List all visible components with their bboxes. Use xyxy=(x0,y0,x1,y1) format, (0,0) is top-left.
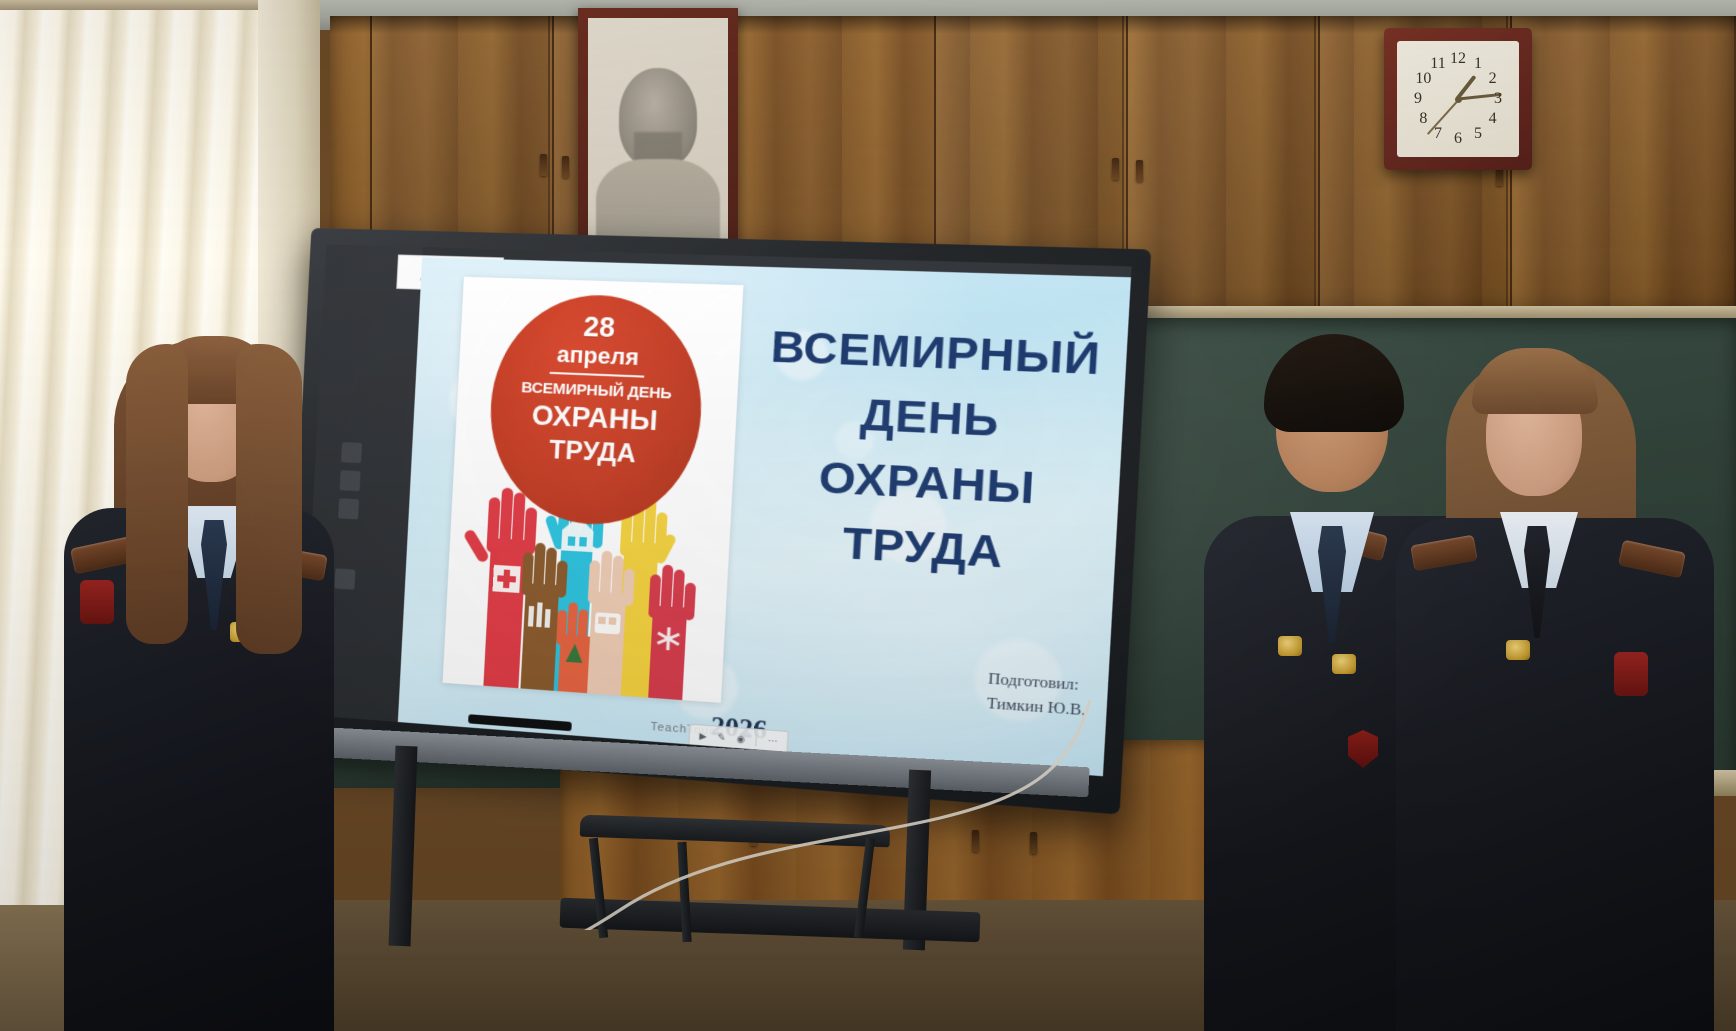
framed-portrait xyxy=(578,8,738,256)
hair-strand-left xyxy=(126,344,188,644)
chair-leg xyxy=(854,838,875,938)
app-tool-button[interactable] xyxy=(338,498,359,519)
clock-face: 121234567891011 xyxy=(1397,41,1519,157)
cabinet-handle[interactable] xyxy=(972,830,979,852)
cabinet-handle[interactable] xyxy=(562,156,569,178)
epaulette xyxy=(1410,535,1478,572)
headline-line: ВСЕМИРНЫЙ xyxy=(762,315,1109,393)
clock-numeral: 11 xyxy=(1430,55,1445,73)
hair-top xyxy=(1472,348,1598,414)
poster-rule xyxy=(550,372,645,378)
epaulette xyxy=(1618,540,1686,579)
clock-numeral: 5 xyxy=(1474,125,1482,143)
clock-numeral: 2 xyxy=(1489,70,1497,88)
hair-strand-right xyxy=(236,344,302,654)
cabinet-handle[interactable] xyxy=(540,154,547,176)
chest-badge xyxy=(1332,654,1356,674)
slide-headline: ВСЕМИРНЫЙ ДЕНЬ ОХРАНЫ ТРУДА xyxy=(752,315,1110,591)
person-left-cadet xyxy=(26,330,326,1031)
clock-numeral: 3 xyxy=(1494,90,1502,108)
portrait-drawing xyxy=(588,18,728,246)
poster-image: 28 апреля ВСЕМИРНЫЙ ДЕНЬ ОХРАНЫ ТРУДА xyxy=(443,277,744,703)
panel-bezel: ohrana truda 28 апреля ВСЕМИРНЫЙ ДЕНЬ ОХ… xyxy=(285,228,1152,815)
sleeve-patch xyxy=(1614,652,1648,696)
blinds-headrail[interactable] xyxy=(0,0,300,10)
app-tool-button[interactable] xyxy=(341,442,362,463)
clock-center-pin xyxy=(1455,96,1462,103)
clock-numeral: 12 xyxy=(1450,50,1466,68)
clock-numeral: 8 xyxy=(1419,110,1427,128)
interactive-flat-panel[interactable]: ohrana truda 28 апреля ВСЕМИРНЫЙ ДЕНЬ ОХ… xyxy=(285,228,1152,815)
collar-insignia xyxy=(1278,636,1302,656)
cabinet-door[interactable] xyxy=(1510,16,1736,316)
shoulder-patch xyxy=(80,580,114,624)
toolbar-divider xyxy=(756,734,758,747)
presentation-slide[interactable]: 28 апреля ВСЕМИРНЫЙ ДЕНЬ ОХРАНЫ ТРУДА xyxy=(398,257,1131,776)
poster-line-3: ТРУДА xyxy=(488,433,699,473)
more-icon[interactable]: ⋯ xyxy=(768,736,778,746)
uniform-jacket xyxy=(1396,518,1714,1031)
chair[interactable] xyxy=(560,812,910,932)
clock-numeral: 7 xyxy=(1434,125,1442,143)
cabinet-handle[interactable] xyxy=(1136,160,1143,182)
cabinet-handle[interactable] xyxy=(1030,832,1037,854)
app-tool-button[interactable] xyxy=(335,568,356,589)
play-icon[interactable]: ▶ xyxy=(699,731,707,741)
clock-numeral: 1 xyxy=(1474,55,1482,73)
clock-numeral: 6 xyxy=(1454,130,1462,148)
classroom-photo: 121234567891011 ohrana truda 28 xyxy=(0,0,1736,1031)
person-right-cadet xyxy=(1420,346,1720,1031)
chair-seat[interactable] xyxy=(580,815,891,848)
slide-credit: Подготовил: Тимкин Ю.В. xyxy=(986,668,1088,723)
pen-icon[interactable]: ✎ xyxy=(717,733,726,743)
pointer-icon[interactable]: ◉ xyxy=(736,734,745,744)
panel-screen[interactable]: ohrana truda 28 апреля ВСЕМИРНЫЙ ДЕНЬ ОХ… xyxy=(302,244,1132,776)
cabinet-door[interactable] xyxy=(1126,16,1316,316)
hand-pink-right xyxy=(644,564,697,701)
chair-leg xyxy=(589,838,608,938)
hair xyxy=(1264,334,1404,432)
wall-clock: 121234567891011 xyxy=(1384,28,1532,170)
chest-emblem xyxy=(1348,730,1378,768)
clock-numeral: 9 xyxy=(1414,90,1422,108)
chair-leg xyxy=(677,842,691,942)
portrait-body xyxy=(596,159,719,246)
chest-badge xyxy=(1506,640,1530,660)
clock-numeral: 10 xyxy=(1415,70,1431,88)
app-tool-button[interactable] xyxy=(340,470,361,491)
poster-line-2: ОХРАНЫ xyxy=(490,398,702,439)
clock-numeral: 4 xyxy=(1489,110,1497,128)
cabinet-handle[interactable] xyxy=(1112,158,1119,180)
